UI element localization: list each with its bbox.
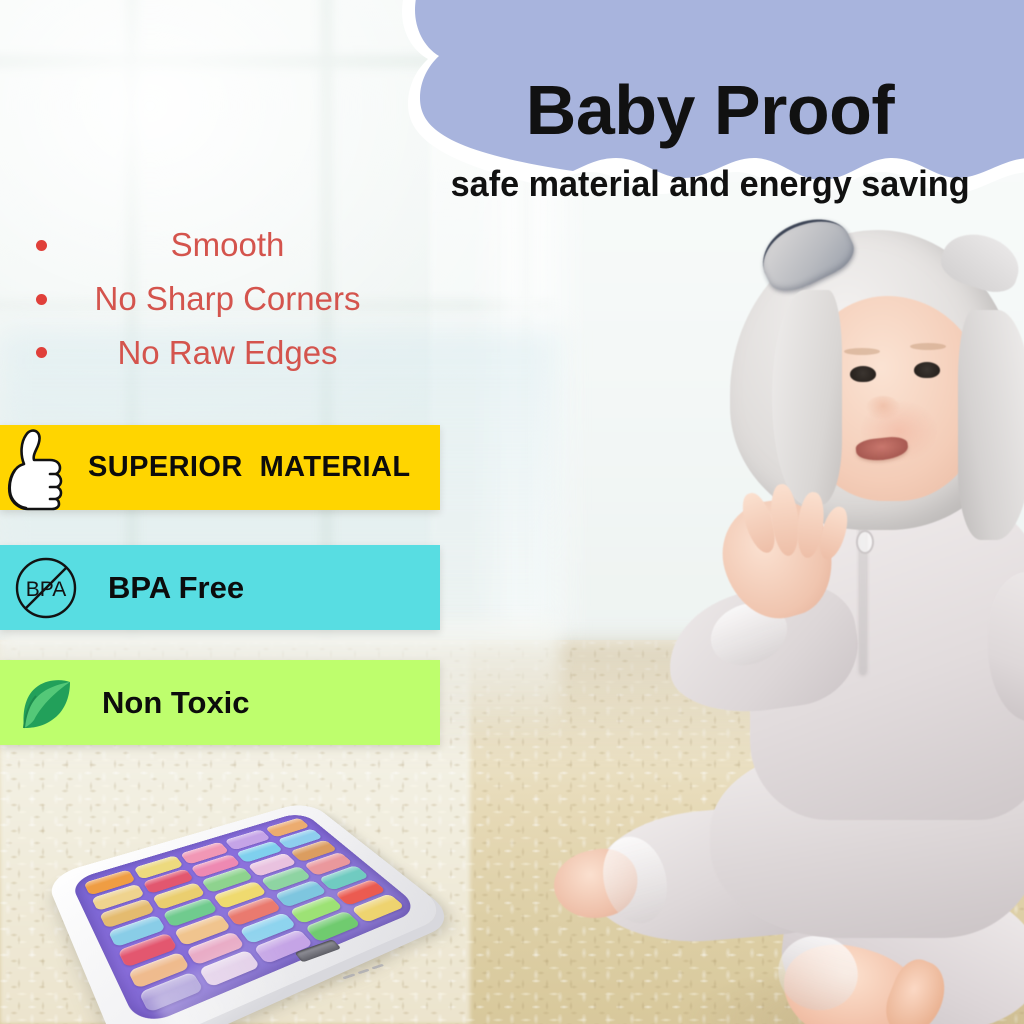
banner-label: SUPERIOR MATERIAL	[88, 451, 410, 484]
feature-banner-bpa-free: BPA BPA Free	[0, 545, 440, 630]
baby-photo-subject	[560, 200, 1024, 1024]
feature-banner-non-toxic: Non Toxic	[0, 660, 440, 745]
bullet-dot-icon	[36, 294, 47, 305]
page-subtitle: safe material and energy saving	[451, 163, 970, 205]
list-item: Smooth	[18, 218, 413, 272]
cloud-text-block: Baby Proof safe material and energy savi…	[330, 0, 1024, 280]
product-marketing-image: Baby Proof safe material and energy savi…	[0, 0, 1024, 1024]
toy-phone-product	[120, 790, 420, 1000]
onesie-hood-front-edge	[772, 290, 842, 505]
onesie-zipper-pull	[856, 530, 874, 554]
banner-label: BPA Free	[108, 570, 244, 606]
onesie-hood-right-edge	[958, 310, 1024, 540]
baby-eye-right	[914, 362, 940, 378]
list-item: No Sharp Corners	[18, 272, 413, 326]
baby-eyebrow-right	[910, 343, 946, 350]
bpa-free-icon: BPA	[8, 550, 84, 626]
cloud-banner: Baby Proof safe material and energy savi…	[330, 0, 1024, 280]
thumbs-up-icon	[0, 422, 80, 514]
baby-nose	[866, 396, 900, 420]
list-item: No Raw Edges	[18, 326, 413, 380]
bullet-label: No Raw Edges	[18, 326, 413, 380]
feature-banner-superior-material: SUPERIOR MATERIAL	[0, 425, 440, 510]
leaf-icon	[10, 668, 80, 738]
feature-bullet-list: Smooth No Sharp Corners No Raw Edges	[18, 218, 413, 379]
baby-eye-left	[850, 366, 876, 382]
banner-label: Non Toxic	[102, 685, 250, 721]
bullet-label: Smooth	[18, 218, 413, 272]
bullet-label: No Sharp Corners	[18, 272, 413, 326]
page-title: Baby Proof	[526, 75, 894, 145]
baby-eyebrow-left	[844, 348, 880, 355]
bpa-icon-text: BPA	[26, 578, 66, 601]
bullet-dot-icon	[36, 240, 47, 251]
